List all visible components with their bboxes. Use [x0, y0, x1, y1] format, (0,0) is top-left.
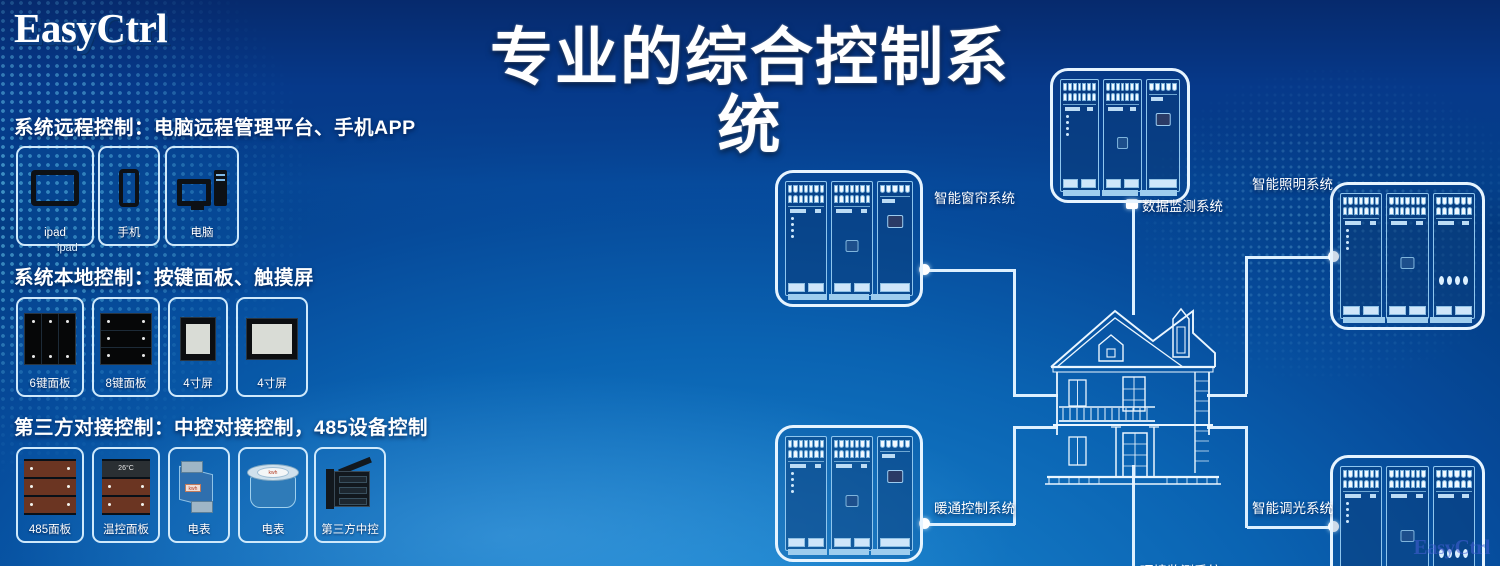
system-topology-diagram: 智能窗帘系统 数据监测系统 智能照明系统 暖通控制系统 环境监测系统 智能调光系…: [760, 60, 1500, 566]
six-key-panel-icon: [18, 299, 82, 378]
round-meter-icon: kwh: [240, 449, 306, 524]
device-card-6key-panel[interactable]: 6键面板: [16, 297, 84, 397]
device-card-485-panel[interactable]: 485面板: [16, 447, 84, 543]
diagram-label-lighting: 智能照明系统: [1252, 173, 1333, 193]
thermostat-panel-icon: 26°C: [94, 449, 158, 524]
device-card-thermostat-panel[interactable]: 26°C 温控面板: [92, 447, 160, 543]
device-card-round-meter[interactable]: kwh 电表: [238, 447, 308, 543]
device-label: 电表: [188, 524, 211, 537]
device-card-pc[interactable]: 电脑: [165, 146, 239, 246]
villa-house-illustration: [1043, 295, 1223, 490]
electric-meter-icon: kwh: [170, 449, 228, 524]
device-card-8key-panel[interactable]: 8键面板: [92, 297, 160, 397]
watermark-logo: EasyCtrl: [1414, 535, 1491, 560]
controller-module-data[interactable]: [1050, 68, 1190, 203]
rs485-panel-icon: [18, 449, 82, 524]
controller-module-lighting[interactable]: [1330, 182, 1485, 330]
diagram-label-data: 数据监测系统: [1142, 195, 1223, 215]
connector-dimming-v: [1245, 426, 1248, 528]
device-label: 4寸屏: [183, 378, 212, 391]
device-label: 手机: [118, 227, 141, 240]
ipad-sub-note: ipad: [57, 242, 78, 254]
brand-logo: EasyCtrl: [14, 4, 167, 52]
connector-curtain-h: [925, 269, 1015, 272]
device-card-third-party-controller[interactable]: 第三方中控: [314, 447, 386, 543]
section-heading-third-party-control: 第三方对接控制：中控对接控制，485设备控制: [14, 411, 428, 440]
connector-lighting-h: [1247, 256, 1333, 259]
device-label: 4寸屏: [257, 378, 286, 391]
device-label: 温控面板: [103, 524, 149, 537]
diagram-label-hvac: 暖通控制系统: [934, 497, 1015, 517]
device-card-ipad[interactable]: ipad: [16, 146, 94, 246]
connector-dimming-h: [1247, 526, 1333, 529]
diagram-label-curtain: 智能窗帘系统: [934, 187, 1015, 207]
device-card-4inch-screen-wide[interactable]: 4寸屏: [236, 297, 308, 397]
connector-curtain-v: [1013, 269, 1016, 395]
device-card-4inch-screen[interactable]: 4寸屏: [168, 297, 228, 397]
thermostat-display: 26°C: [102, 461, 150, 477]
section-heading-remote-control: 系统远程控制：电脑远程管理平台、手机APP: [14, 111, 416, 140]
smartphone-icon: [100, 148, 158, 227]
device-label: 第三方中控: [321, 524, 379, 537]
section-heading-local-control: 系统本地控制：按键面板、触摸屏: [14, 261, 314, 290]
diagram-label-environment: 环境监测系统: [1140, 560, 1221, 566]
connector-hvac-h: [925, 523, 1015, 526]
connector-lighting-v: [1245, 256, 1248, 394]
third-party-controller-icon: [316, 449, 384, 524]
device-card-electric-meter[interactable]: kwh 电表: [168, 447, 230, 543]
tablet-icon: [18, 148, 92, 227]
four-inch-screen-wide-icon: [238, 299, 306, 378]
eight-key-panel-icon: [94, 299, 158, 378]
device-label: 6键面板: [30, 378, 71, 391]
desktop-computer-icon: [167, 148, 237, 227]
device-label: 电表: [262, 524, 285, 537]
diagram-label-dimming: 智能调光系统: [1252, 497, 1333, 517]
controller-module-hvac[interactable]: [775, 425, 923, 562]
controller-module-curtain[interactable]: [775, 170, 923, 307]
device-label: 485面板: [29, 524, 71, 537]
device-label: ipad: [44, 227, 66, 240]
device-label: 8键面板: [106, 378, 147, 391]
device-card-phone[interactable]: 手机: [98, 146, 160, 246]
four-inch-screen-icon: [170, 299, 226, 378]
device-label: 电脑: [191, 227, 214, 240]
